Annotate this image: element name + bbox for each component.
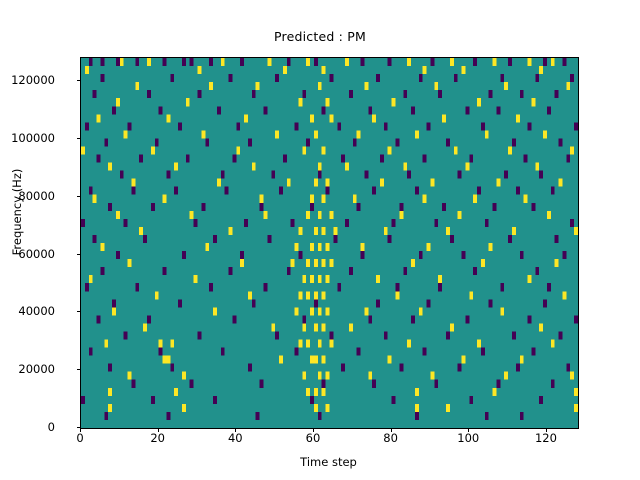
x-tick-mark — [235, 429, 236, 433]
x-tick-mark — [391, 429, 392, 433]
x-tick-label: 60 — [273, 431, 353, 445]
y-tick-mark — [77, 369, 81, 370]
y-tick-label: 20000 — [0, 362, 55, 376]
y-tick-label: 80000 — [0, 189, 55, 203]
matplotlib-figure: Predicted : PM Frequency (Hz) Time step … — [0, 0, 640, 480]
x-tick-label: 100 — [428, 431, 508, 445]
x-tick-label: 20 — [118, 431, 198, 445]
x-tick-label: 120 — [506, 431, 586, 445]
y-axis-label: Frequency (Hz) — [10, 42, 24, 382]
x-tick-label: 0 — [40, 431, 120, 445]
x-tick-mark — [468, 429, 469, 433]
y-tick-mark — [77, 311, 81, 312]
y-tick-label: 60000 — [0, 247, 55, 261]
y-tick-label: 120000 — [0, 73, 55, 87]
x-tick-mark — [158, 429, 159, 433]
page-title: Predicted : PM — [0, 29, 640, 44]
x-tick-mark — [313, 429, 314, 433]
x-tick-mark — [546, 429, 547, 433]
y-tick-label: 100000 — [0, 131, 55, 145]
y-tick-mark — [77, 254, 81, 255]
y-tick-mark — [77, 80, 81, 81]
x-tick-mark — [80, 429, 81, 433]
heatmap-image — [81, 58, 578, 428]
heatmap-axes — [80, 57, 579, 429]
y-tick-mark — [77, 196, 81, 197]
x-axis-label: Time step — [80, 455, 577, 469]
y-tick-mark — [77, 138, 81, 139]
y-tick-label: 40000 — [0, 304, 55, 318]
x-tick-label: 40 — [195, 431, 275, 445]
x-tick-label: 80 — [351, 431, 431, 445]
